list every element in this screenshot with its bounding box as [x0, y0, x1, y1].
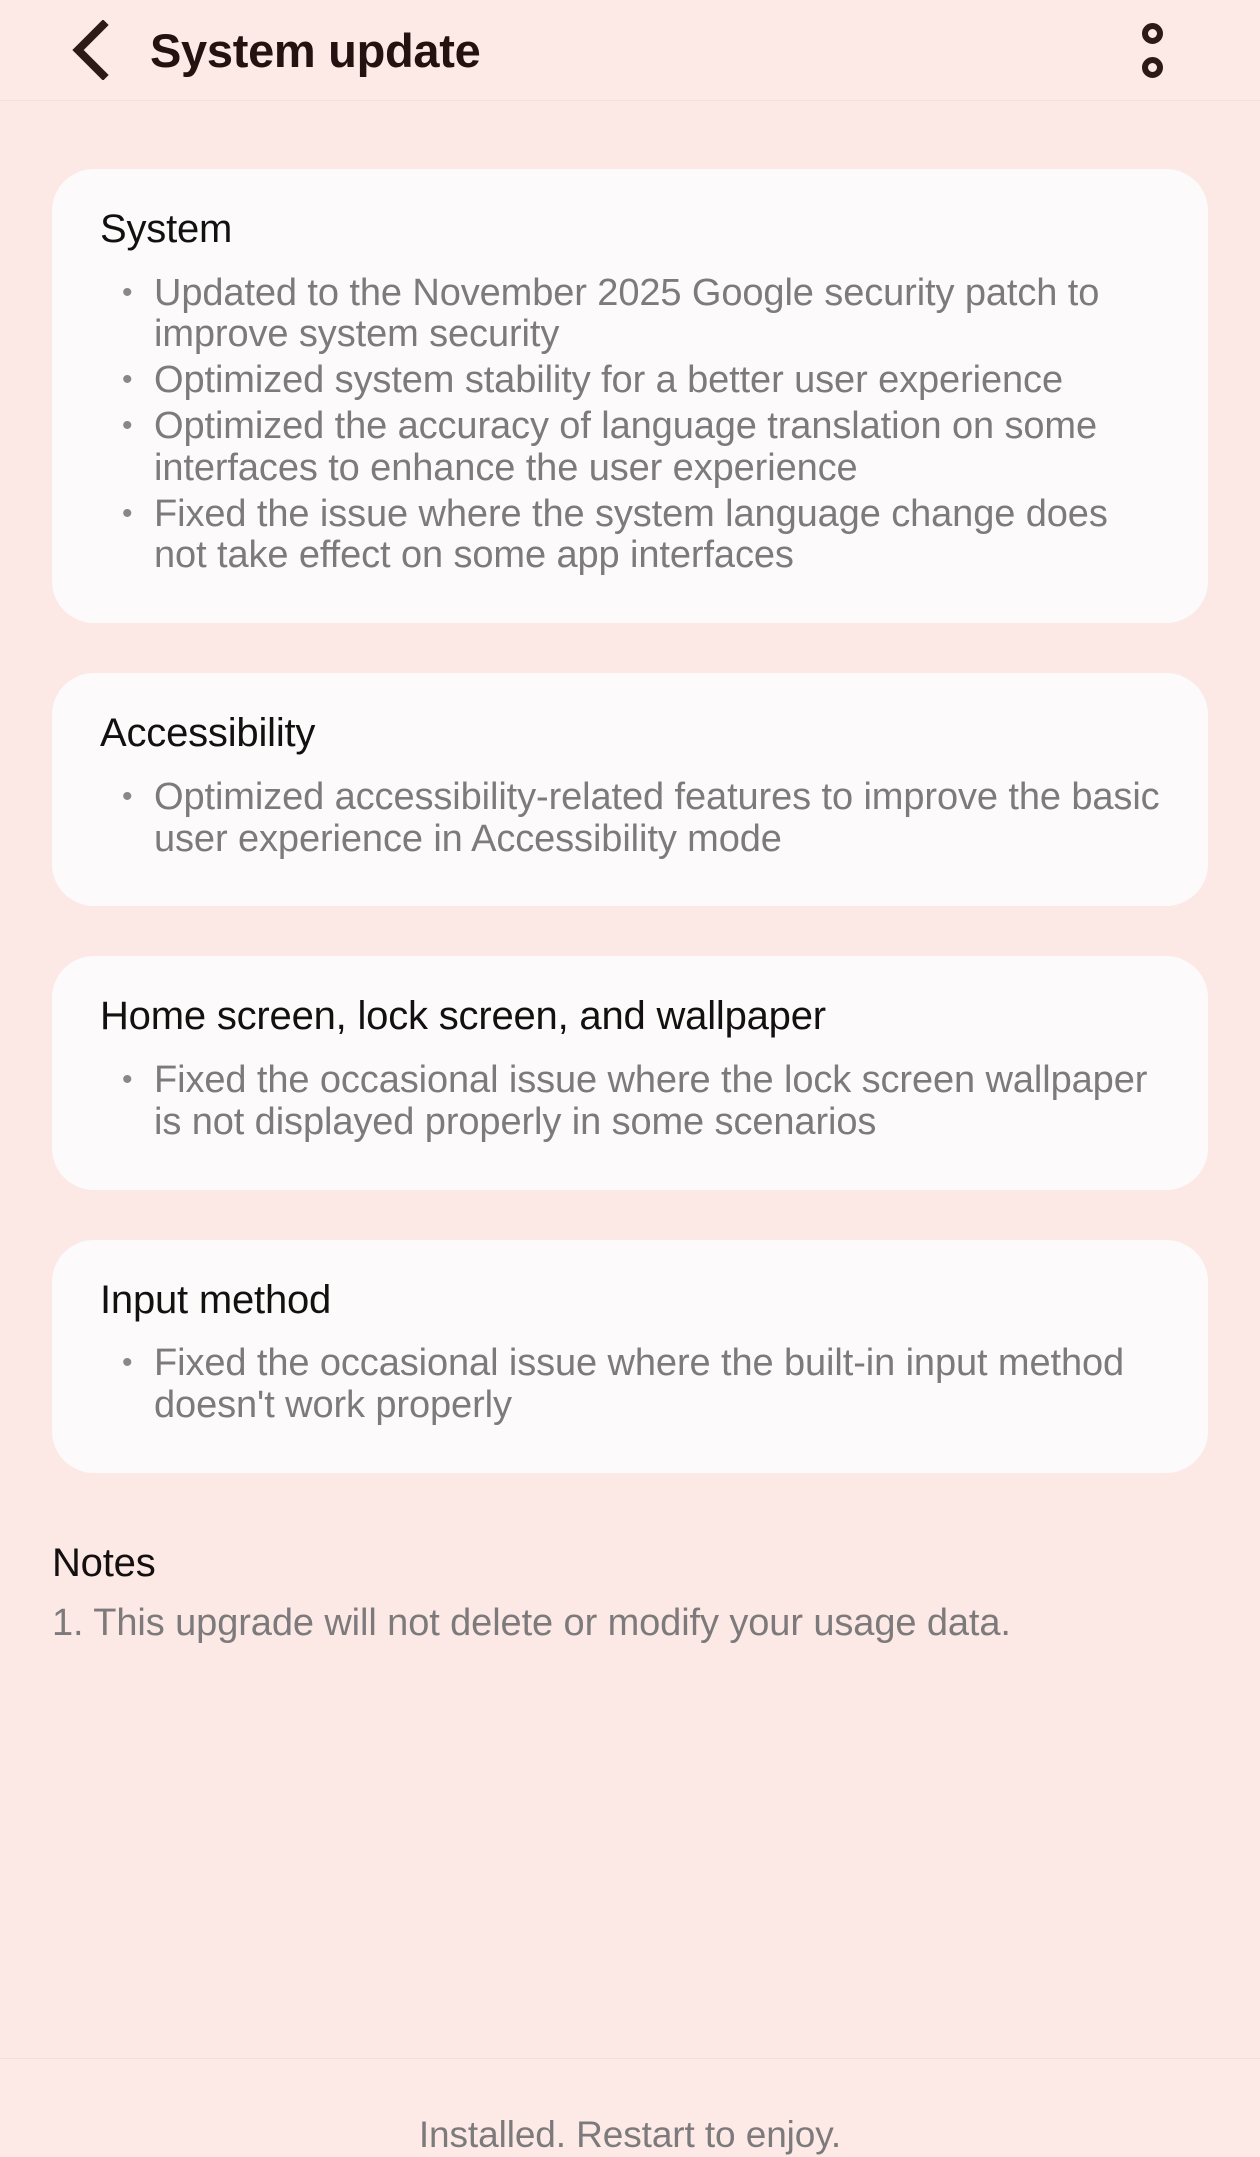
notes-title: Notes: [52, 1541, 1208, 1586]
page-title: System update: [150, 0, 480, 101]
overflow-menu-button[interactable]: [1110, 8, 1194, 92]
changelog-list: Optimized accessibility-related features…: [100, 777, 1160, 861]
list-item: Fixed the occasional issue where the loc…: [100, 1060, 1160, 1144]
changelog-list: Fixed the occasional issue where the loc…: [100, 1060, 1160, 1144]
app-bar: System update: [0, 0, 1260, 101]
list-item: Fixed the occasional issue where the bui…: [100, 1343, 1160, 1427]
bottom-action-bar: Installed. Restart to enjoy.: [0, 2058, 1260, 2157]
list-item: This upgrade will not delete or modify y…: [52, 1602, 1208, 1646]
update-changelog-scroll[interactable]: System Updated to the November 2025 Goog…: [0, 101, 1260, 2058]
notes-section: Notes This upgrade will not delete or mo…: [0, 1523, 1260, 1646]
card-title: Home screen, lock screen, and wallpaper: [100, 992, 1160, 1042]
list-item: Optimized accessibility-related features…: [100, 777, 1160, 861]
list-item: Fixed the issue where the system languag…: [100, 494, 1160, 578]
list-item: Updated to the November 2025 Google secu…: [100, 273, 1160, 357]
status-text: Installed. Restart to enjoy.: [419, 2116, 841, 2157]
changelog-list: Fixed the occasional issue where the bui…: [100, 1343, 1160, 1427]
back-button[interactable]: [48, 8, 132, 92]
changelog-list: Updated to the November 2025 Google secu…: [100, 273, 1160, 578]
card-title: Accessibility: [100, 709, 1160, 759]
list-item: Optimized system stability for a better …: [100, 360, 1160, 402]
list-item: Optimized the accuracy of language trans…: [100, 406, 1160, 490]
two-dot-menu-icon-top: [1142, 23, 1163, 44]
changelog-card-system: System Updated to the November 2025 Goog…: [52, 169, 1208, 623]
card-title: System: [100, 205, 1160, 255]
chevron-left-icon: [67, 20, 113, 80]
notes-list: This upgrade will not delete or modify y…: [52, 1602, 1208, 1646]
two-dot-menu-icon-bottom: [1142, 57, 1163, 78]
changelog-card-home-lock-wallpaper: Home screen, lock screen, and wallpaper …: [52, 956, 1208, 1189]
changelog-card-accessibility: Accessibility Optimized accessibility-re…: [52, 673, 1208, 906]
changelog-card-input-method: Input method Fixed the occasional issue …: [52, 1240, 1208, 1473]
card-title: Input method: [100, 1276, 1160, 1326]
